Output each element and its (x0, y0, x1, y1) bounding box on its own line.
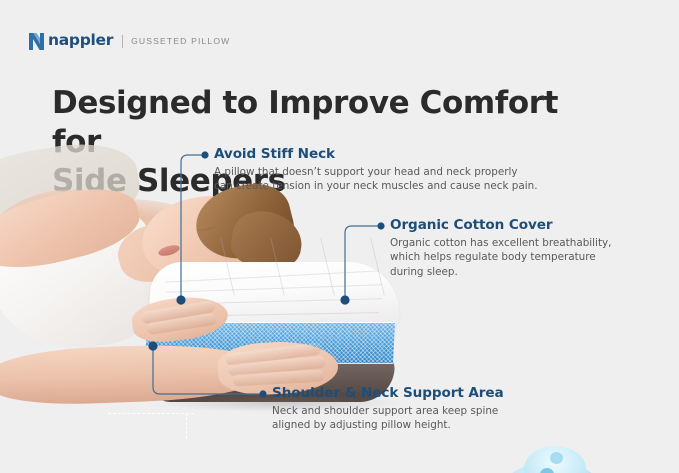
callout-title: Organic Cotton Cover (390, 218, 611, 234)
callout-title: Shoulder & Neck Support Area (272, 386, 504, 402)
callout-body-line: Organic cotton has excellent breathabili… (390, 236, 611, 251)
callout-body-line: which helps regulate body temperature (390, 250, 611, 265)
callout-body: Neck and shoulder support area keep spin… (272, 404, 504, 434)
brand-divider (122, 35, 123, 48)
brand-bar: nappler GUSSETED PILLOW (28, 30, 230, 52)
product-line-label: GUSSETED PILLOW (131, 37, 230, 46)
callout-body-line: during sleep. (390, 265, 611, 280)
callout-body: A pillow that doesn’t support your head … (214, 165, 538, 195)
callout-body: Organic cotton has excellent breathabili… (390, 236, 611, 280)
callout-body-line: aligned by adjusting pillow height. (272, 418, 504, 433)
nappler-n-mark-icon (28, 32, 45, 51)
callout-shoulder-neck-support-area: Shoulder & Neck Support Area Neck and sh… (272, 386, 504, 433)
infographic-root: nappler GUSSETED PILLOW Designed to Impr… (0, 0, 679, 473)
callout-organic-cotton-cover: Organic Cotton Cover Organic cotton has … (390, 218, 611, 280)
callout-body-line: A pillow that doesn’t support your head … (214, 165, 538, 180)
callout-title: Avoid Stiff Neck (214, 147, 538, 163)
callout-body-line: can create tension in your neck muscles … (214, 179, 538, 194)
shredded-gel-memory-foam-pile (472, 442, 632, 473)
callout-body-line: Neck and shoulder support area keep spin… (272, 404, 504, 419)
callout-avoid-stiff-neck: Avoid Stiff Neck A pillow that doesn’t s… (214, 147, 538, 194)
brand-name: nappler (48, 33, 113, 49)
